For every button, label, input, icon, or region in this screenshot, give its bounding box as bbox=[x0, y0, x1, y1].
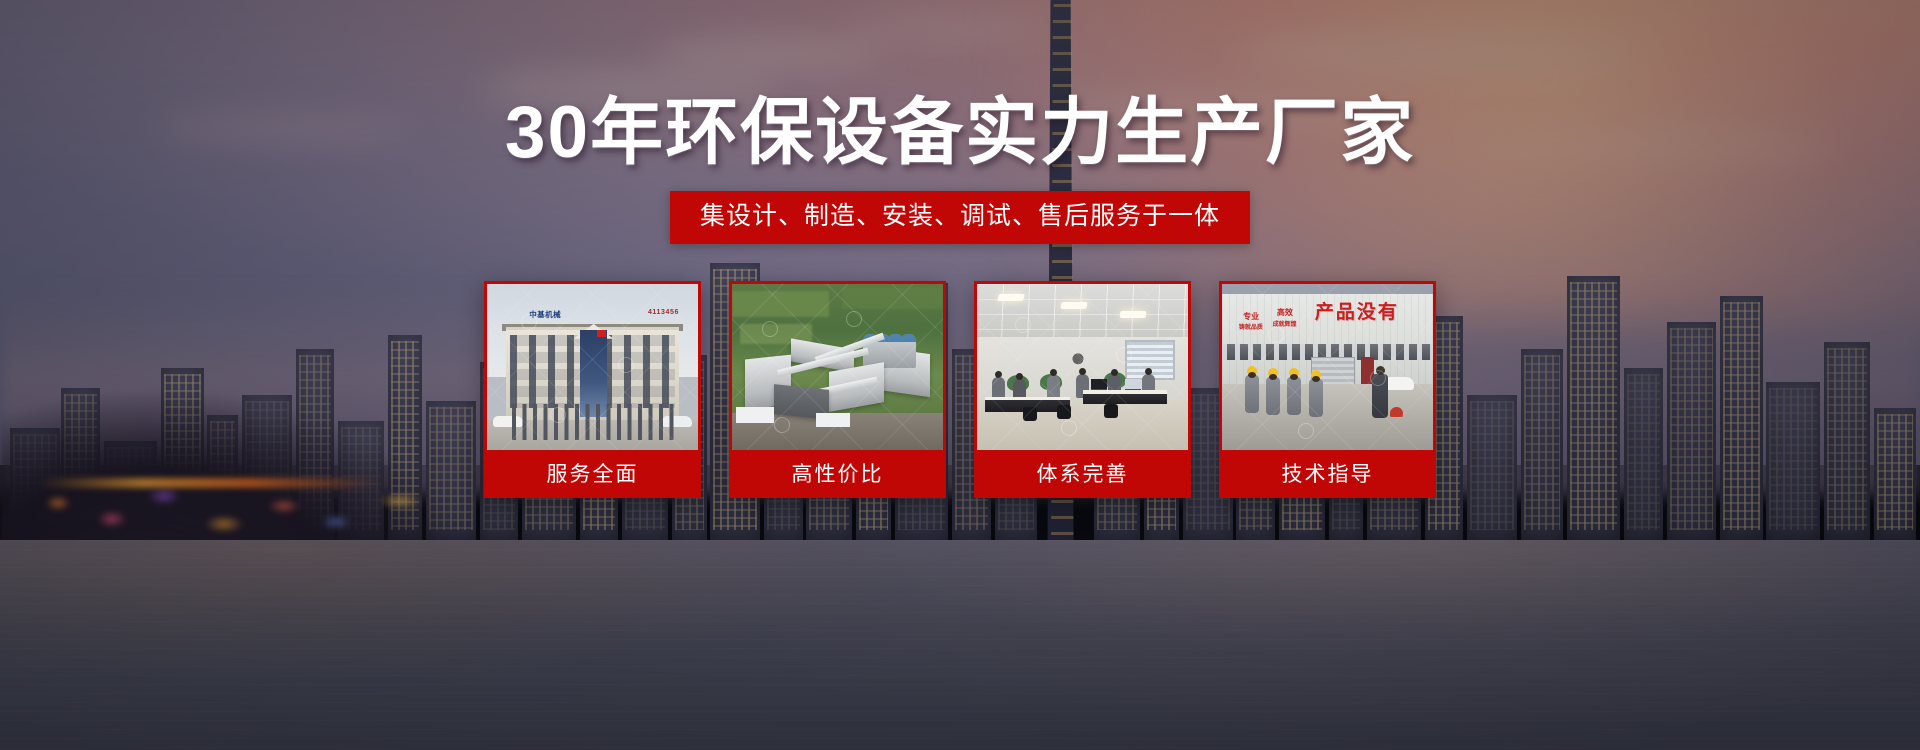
card-thumbnail-office-building[interactable]: 中基机械 4113456 bbox=[487, 284, 698, 450]
feature-card[interactable]: 体系完善 bbox=[974, 281, 1191, 498]
feature-card-list: 中基机械 4113456 bbox=[484, 281, 1436, 498]
building-sign-text: 中基机械 bbox=[529, 309, 561, 320]
factory-slogan-1-sub: 铸就品质 bbox=[1239, 322, 1263, 331]
feature-card[interactable]: 高性价比 bbox=[729, 281, 946, 498]
factory-slogan-1: 专业 bbox=[1243, 311, 1259, 322]
factory-slogan-2-sub: 成就辉煌 bbox=[1273, 319, 1297, 328]
card-caption: 体系完善 bbox=[977, 450, 1188, 495]
building-phone-text: 4113456 bbox=[648, 309, 679, 316]
card-caption: 高性价比 bbox=[732, 450, 943, 495]
feature-card[interactable]: 产品没有 专业 铸就品质 高效 成就辉煌 bbox=[1219, 281, 1436, 498]
card-thumbnail-office-interior[interactable] bbox=[977, 284, 1188, 450]
card-caption: 服务全面 bbox=[487, 450, 698, 495]
hero-banner: 30年环保设备实力生产厂家 集设计、制造、安装、调试、售后服务于一体 中基机械 … bbox=[0, 0, 1920, 750]
card-thumbnail-plant-aerial[interactable] bbox=[732, 284, 943, 450]
subtitle-badge: 集设计、制造、安装、调试、售后服务于一体 bbox=[670, 191, 1250, 244]
page-title: 30年环保设备实力生产厂家 bbox=[0, 96, 1920, 169]
banner-content: 30年环保设备实力生产厂家 集设计、制造、安装、调试、售后服务于一体 中基机械 … bbox=[0, 0, 1920, 750]
subtitle-container: 集设计、制造、安装、调试、售后服务于一体 bbox=[0, 191, 1920, 244]
feature-card[interactable]: 中基机械 4113456 bbox=[484, 281, 701, 498]
factory-headline-text: 产品没有 bbox=[1315, 297, 1399, 324]
card-thumbnail-factory-workshop[interactable]: 产品没有 专业 铸就品质 高效 成就辉煌 bbox=[1222, 284, 1433, 450]
factory-slogan-2: 高效 bbox=[1277, 307, 1293, 318]
card-caption: 技术指导 bbox=[1222, 450, 1433, 495]
